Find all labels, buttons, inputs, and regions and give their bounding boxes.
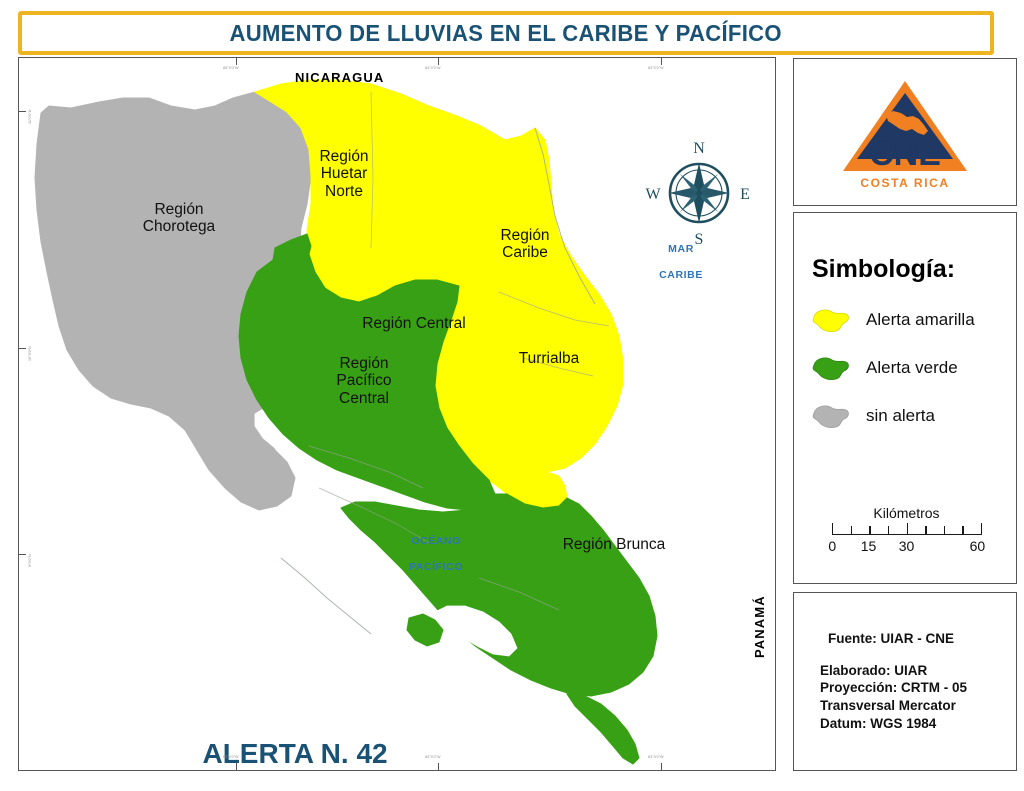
credits-panel: Fuente: UIAR - CNE Elaborado: UIAR Proye… [793, 592, 1017, 771]
credits-line-proyeccion: Proyección: CRTM - 05 [820, 679, 1016, 697]
scale-tick-1 [851, 526, 852, 535]
scale-tick-0 [832, 523, 833, 535]
scale-bar-title: Kilómetros [824, 505, 989, 521]
scale-bar-group: Kilómetros 0 15 30 60 [824, 505, 989, 556]
legend-swatch-gray [810, 401, 852, 431]
scale-tick-4 [907, 523, 908, 535]
graticule-tick-top-2 [438, 58, 439, 65]
graticule-label-left-2: 10°0'0"N [28, 346, 32, 361]
oceano-pacifico-line2: PACÍFICO [409, 561, 463, 573]
mar-caribe-line2: CARIBE [659, 269, 703, 281]
graticule-tick-bottom-3 [661, 763, 662, 770]
legend-swatch-yellow [810, 305, 852, 335]
graticule-label-left-3: 9°0'0"N [28, 554, 32, 567]
legend-panel: Simbología: Alerta amarilla Alerta verde… [793, 212, 1017, 584]
legend-item-alerta-amarilla[interactable]: Alerta amarilla [810, 305, 975, 335]
graticule-tick-bottom-1 [236, 763, 237, 770]
alert-caption: ALERTA N. 42 AMARILLA Y VERDE [115, 704, 445, 771]
compass-label-west: W [645, 186, 661, 203]
legend-title: Simbología: [812, 255, 955, 284]
legend-item-sin-alerta[interactable]: sin alerta [810, 401, 935, 431]
map-title-bar: AUMENTO DE LLUVIAS EN EL CARIBE Y PACÍFI… [18, 11, 994, 55]
scale-bar-labels: 0 15 30 60 [824, 538, 989, 556]
credits-line-datum: Datum: WGS 1984 [820, 715, 1016, 733]
scale-tick-8 [981, 523, 982, 535]
graticule-tick-left-1 [19, 111, 26, 112]
legend-item-alerta-verde[interactable]: Alerta verde [810, 353, 958, 383]
graticule-tick-left-2 [19, 348, 26, 349]
scale-tick-2 [869, 526, 870, 535]
credits-line-elaborado: Elaborado: UIAR [820, 662, 1016, 680]
compass-label-north: N [693, 140, 705, 157]
compass-label-east: E [740, 186, 750, 203]
legend-label-sin-alerta: sin alerta [866, 406, 935, 426]
compass-rose: N S W E [645, 136, 753, 248]
scale-bar-graphic [832, 523, 981, 537]
logo-panel: CNE COSTA RICA [793, 58, 1017, 206]
scale-label-15: 15 [861, 538, 877, 554]
scale-label-60: 60 [970, 538, 986, 554]
alert-caption-line1: ALERTA N. 42 [202, 738, 387, 769]
graticule-label-top-1: 85°0'0"W [223, 66, 239, 70]
legend-swatch-green [810, 353, 852, 383]
logo-acronym: CNE [869, 135, 941, 173]
graticule-tick-bottom-2 [438, 763, 439, 770]
punta-burica [567, 694, 639, 764]
oceano-pacifico-line1: OCÉANO [411, 535, 461, 547]
credits-line-transversal: Transversal Mercator [820, 697, 1016, 715]
graticule-label-top-3: 83°0'0"W [648, 66, 664, 70]
country-label-nicaragua: NICARAGUA [295, 70, 384, 85]
scale-label-30: 30 [899, 538, 915, 554]
graticule-label-left-1: 11°0'0"N [28, 109, 32, 124]
graticule-label-bottom-1: 85°0'0"W [223, 755, 239, 759]
ocean-label-oceano-pacifico: OCÉANO PACÍFICO [389, 522, 469, 588]
graticule-tick-left-3 [19, 554, 26, 555]
compass-label-south: S [695, 231, 704, 248]
scale-label-0: 0 [828, 538, 836, 554]
graticule-label-bottom-2: 84°0'0"W [425, 755, 441, 759]
cne-logo: CNE COSTA RICA [794, 59, 1016, 205]
graticule-tick-top-1 [236, 58, 237, 65]
scale-tick-6 [944, 526, 945, 535]
credits-source: Fuente: UIAR - CNE [820, 631, 1016, 646]
scale-tick-3 [888, 526, 889, 535]
page-title: AUMENTO DE LLUVIAS EN EL CARIBE Y PACÍFI… [230, 20, 782, 47]
graticule-label-bottom-3: 83°0'0"W [648, 755, 664, 759]
graticule-label-top-2: 84°0'0"W [425, 66, 441, 70]
legend-label-alerta-amarilla: Alerta amarilla [866, 310, 975, 330]
graticule-tick-top-3 [661, 58, 662, 65]
map-frame[interactable]: NICARAGUA PANAMÁ MAR CARIBE OCÉANO PACÍF… [18, 57, 776, 771]
country-label-panama: PANAMÁ [752, 595, 767, 658]
legend-label-alerta-verde: Alerta verde [866, 358, 958, 378]
logo-subtitle: COSTA RICA [860, 176, 949, 190]
scale-tick-7 [962, 526, 963, 535]
scale-tick-5 [925, 526, 926, 535]
